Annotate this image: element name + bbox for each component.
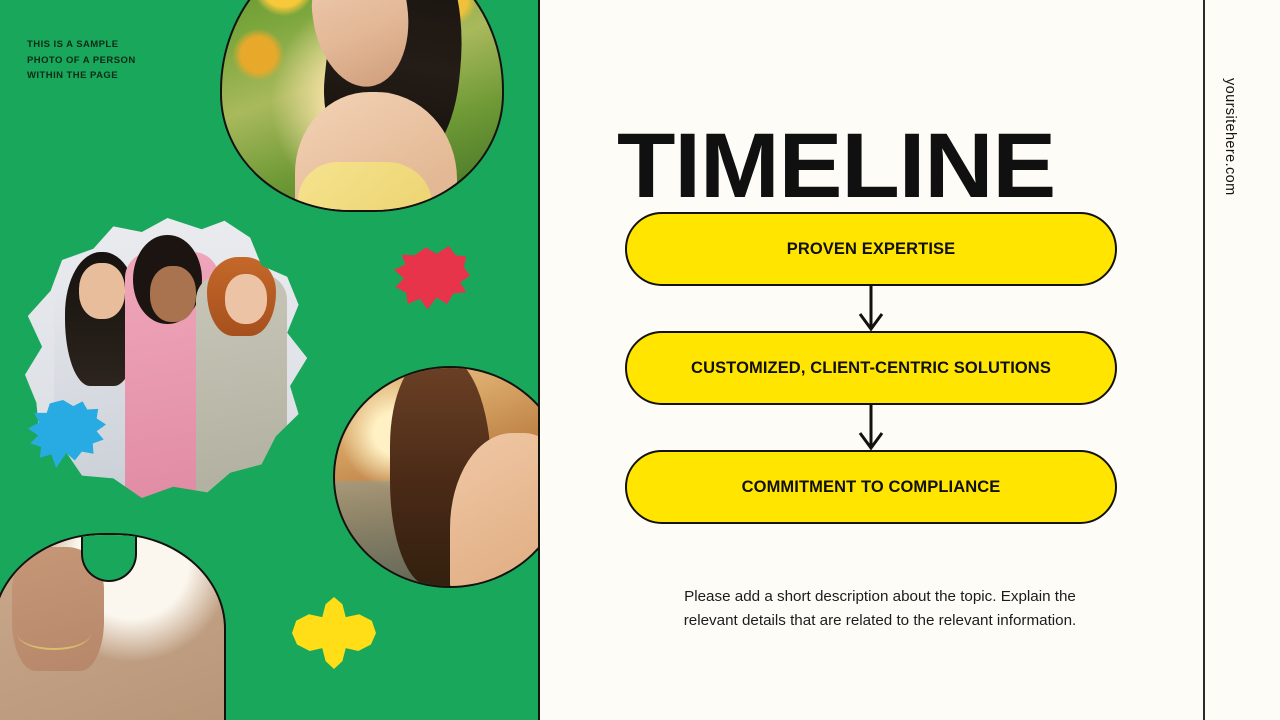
photo-scalloped-people (0, 533, 226, 720)
photo-scalloped-notch (81, 533, 137, 582)
photo-scalloped-necklace (17, 617, 91, 650)
photo-oval-sunset-woman (333, 366, 538, 588)
blob-red-icon (394, 246, 470, 312)
timeline-arrow-2 (625, 405, 1117, 450)
right-edge-rule (1203, 0, 1205, 720)
photo-cloud-person-1-face (79, 263, 125, 319)
page-title: TIMELINE (617, 116, 1055, 216)
timeline-step-3[interactable]: COMMITMENT TO COMPLIANCE (625, 450, 1117, 524)
blob-cross-yellow-icon (292, 597, 376, 669)
timeline-description: Please add a short description about the… (660, 585, 1100, 632)
photo-cloud-three-women (25, 218, 310, 498)
timeline-step-1[interactable]: PROVEN EXPERTISE (625, 212, 1117, 286)
sample-photo-note: THIS IS A SAMPLE PHOTO OF A PERSON WITHI… (27, 37, 136, 84)
timeline-step-2[interactable]: CUSTOMIZED, CLIENT-CENTRIC SOLUTIONS (625, 331, 1117, 405)
site-url-label: yoursitehere.com (1222, 78, 1238, 196)
photo-arch-woman-citrus (220, 0, 504, 212)
photo-arch-dress (298, 162, 432, 212)
timeline-step-3-label: COMMITMENT TO COMPLIANCE (742, 478, 1001, 497)
timeline-step-1-label: PROVEN EXPERTISE (787, 240, 955, 259)
photo-cloud-person-3-face (225, 274, 268, 324)
timeline-step-2-label: CUSTOMIZED, CLIENT-CENTRIC SOLUTIONS (691, 359, 1051, 378)
left-collage-panel: THIS IS A SAMPLE PHOTO OF A PERSON WITHI… (0, 0, 538, 720)
timeline-slide: THIS IS A SAMPLE PHOTO OF A PERSON WITHI… (0, 0, 1280, 720)
timeline-arrow-1 (625, 286, 1117, 331)
photo-cloud-person-2-face (150, 266, 196, 322)
timeline-flow: PROVEN EXPERTISE CUSTOMIZED, CLIENT-CENT… (625, 212, 1117, 524)
